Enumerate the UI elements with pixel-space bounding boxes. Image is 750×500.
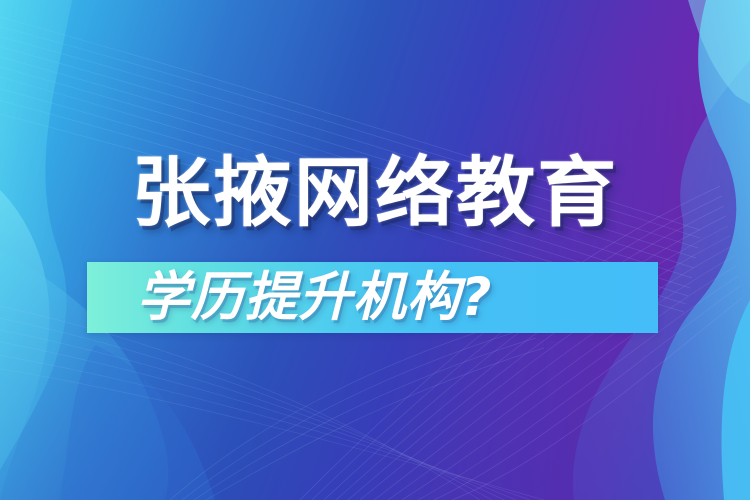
- promo-banner: 张掖网络教育 学历提升机构?: [0, 0, 750, 500]
- subtitle-container: 学历提升机构?: [87, 262, 658, 333]
- subtitle-text: 学历提升机构?: [137, 269, 493, 327]
- subtitle-band: 学历提升机构?: [87, 262, 658, 333]
- background-arc-lines: [0, 0, 750, 500]
